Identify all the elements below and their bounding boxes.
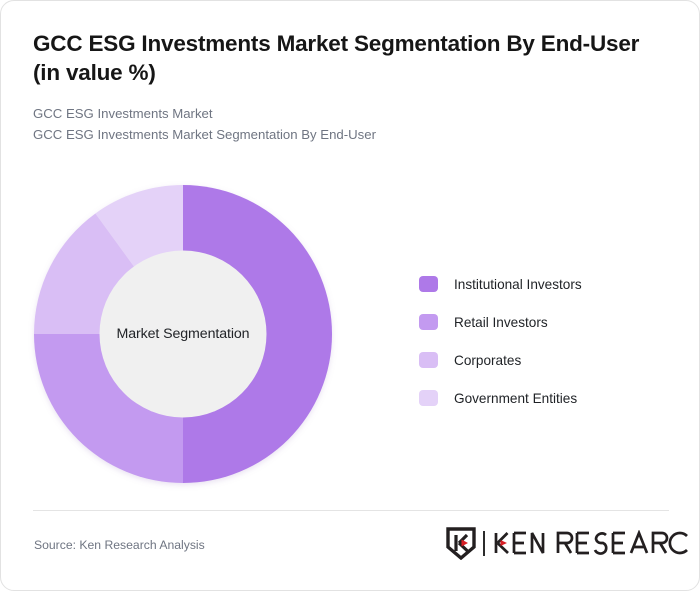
breadcrumb-item-market: GCC ESG Investments Market xyxy=(33,103,655,124)
ken-research-wordmark xyxy=(493,530,691,556)
legend-item[interactable]: Institutional Investors xyxy=(419,265,679,303)
page-title: GCC ESG Investments Market Segmentation … xyxy=(33,29,655,87)
legend-swatch-icon xyxy=(419,276,438,292)
legend-item-label: Corporates xyxy=(454,353,521,368)
source-note: Source: Ken Research Analysis xyxy=(34,538,205,552)
breadcrumb-item-segmentation: GCC ESG Investments Market Segmentation … xyxy=(33,124,655,145)
legend-swatch-icon xyxy=(419,314,438,330)
legend-item[interactable]: Retail Investors xyxy=(419,303,679,341)
brand-logo xyxy=(446,525,691,561)
donut-center-hole xyxy=(100,251,267,418)
chart-plot-area: Market Segmentation Institutional Invest… xyxy=(1,169,700,505)
donut-chart-svg xyxy=(33,184,333,484)
legend-item-label: Retail Investors xyxy=(454,315,548,330)
legend-item-label: Institutional Investors xyxy=(454,277,582,292)
ken-research-shield-icon xyxy=(446,527,476,560)
legend-swatch-icon xyxy=(419,352,438,368)
footer-divider xyxy=(33,510,669,511)
chart-card: GCC ESG Investments Market Segmentation … xyxy=(0,0,700,591)
chart-header: GCC ESG Investments Market Segmentation … xyxy=(33,29,655,145)
chart-legend: Institutional InvestorsRetail InvestorsC… xyxy=(419,265,679,417)
legend-item[interactable]: Corporates xyxy=(419,341,679,379)
breadcrumb: GCC ESG Investments Market GCC ESG Inves… xyxy=(33,103,655,145)
legend-item-label: Government Entities xyxy=(454,391,577,406)
legend-item[interactable]: Government Entities xyxy=(419,379,679,417)
brand-logo-divider xyxy=(483,531,485,556)
legend-swatch-icon xyxy=(419,390,438,406)
donut-chart: Market Segmentation xyxy=(33,184,333,484)
